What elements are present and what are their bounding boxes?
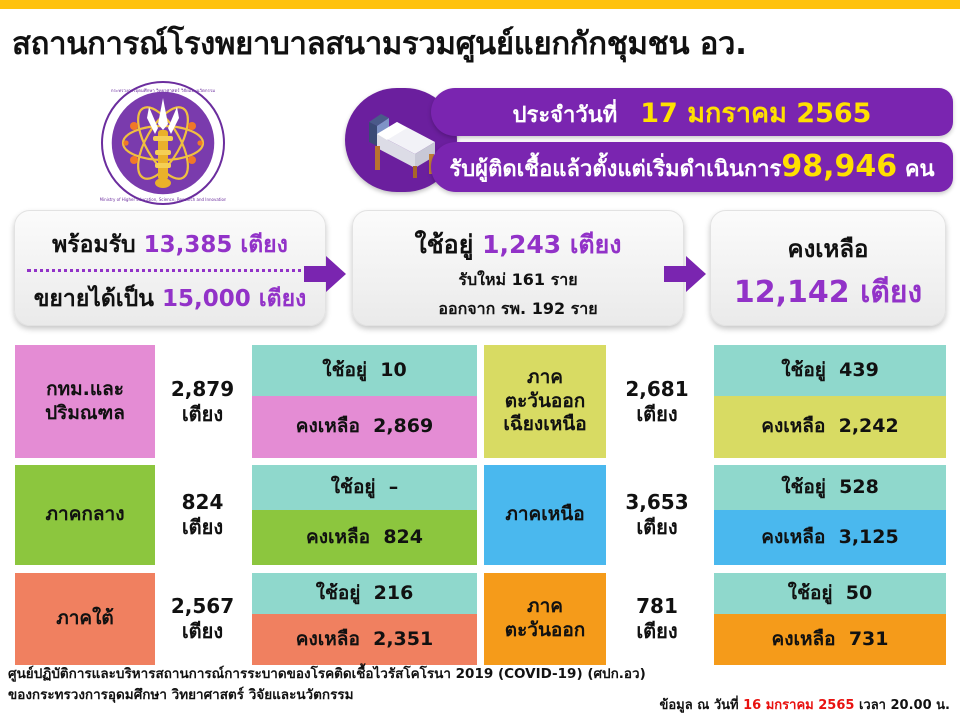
region-remaining-label: คงเหลือ	[306, 526, 370, 548]
region-in-use-label: ใช้อยู่	[331, 476, 376, 498]
region-remaining-text: คงเหลือ 3,125	[761, 526, 898, 550]
region-total-beds-cell: 2,879เตียง	[160, 345, 245, 458]
summary-banner: ประจำวันที่ 17 มกราคม 2565 รับผู้ติดเชื้…	[345, 88, 953, 192]
banner-cumulative-value: 98,946	[781, 149, 897, 184]
region-total-beds-cell: 3,653เตียง	[612, 465, 702, 565]
capacity-ready-value: 13,385	[144, 232, 233, 258]
region-name-line: ปริมณฑล	[45, 402, 125, 426]
region-in-use-value: –	[389, 476, 399, 498]
region-total-unit: เตียง	[182, 619, 223, 644]
region-name-line: เฉียงเหนือ	[503, 413, 586, 437]
footer-time-label: เวลา	[859, 698, 886, 713]
capacity-expandable-label: ขยายได้เป็น	[34, 286, 154, 312]
footer-data-label: ข้อมูล ณ วันที่	[659, 698, 738, 713]
region-name-cell: ภาคเหนือ	[484, 465, 606, 565]
region-in-use-label: ใช้อยู่	[322, 359, 367, 381]
region-name-line: ตะวันออก	[505, 619, 586, 643]
region-remaining-value: 2,242	[839, 415, 899, 437]
region-name-line: ภาคใต้	[56, 607, 114, 631]
infographic-page: สถานการณ์โรงพยาบาลสนามรวมศูนย์แยกกักชุมช…	[0, 0, 960, 720]
footer-data-date: 16 มกราคม 2565	[743, 698, 854, 713]
region-total-beds-cell: 824เตียง	[160, 465, 245, 565]
region-remaining-text: คงเหลือ 731	[772, 628, 889, 652]
region-in-use-text: ใช้อยู่ 528	[781, 476, 879, 500]
remaining-line: 12,142 เตียง	[711, 269, 945, 316]
region-total-value: 2,681	[625, 377, 688, 402]
discharges-line: ออกจาก รพ. 192 ราย	[353, 297, 683, 322]
region-in-use-label: ใช้อยู่	[788, 582, 833, 604]
region-in-use-value: 439	[839, 359, 879, 381]
capacity-divider	[27, 269, 315, 272]
region-total-value: 824	[182, 490, 224, 515]
remaining-unit: เตียง	[860, 275, 922, 310]
region-in-use-cell: ใช้อยู่ 439	[714, 345, 946, 396]
region-in-use-value: 216	[374, 582, 414, 604]
region-in-use-text: ใช้อยู่ –	[331, 476, 398, 500]
region-in-use-cell: ใช้อยู่ 10	[252, 345, 477, 396]
region-total-unit: เตียง	[182, 515, 223, 540]
region-name-cell: ภาคตะวันออกเฉียงเหนือ	[484, 345, 606, 458]
flow-arrow-2-icon	[664, 254, 706, 294]
region-in-use-label: ใช้อยู่	[781, 359, 826, 381]
region-name-cell: กทม.และปริมณฑล	[15, 345, 155, 458]
capacity-ready-line: พร้อมรับ 13,385 เตียง	[15, 227, 325, 263]
remaining-label: คงเหลือ	[711, 229, 945, 268]
footer-organization: ศูนย์ปฏิบัติการและบริหารสถานการณ์การระบา…	[8, 664, 646, 706]
region-table: กทม.และปริมณฑล2,879เตียงใช้อยู่ 10คงเหลื…	[0, 345, 960, 645]
capacity-expandable-value: 15,000	[162, 286, 251, 312]
region-in-use-text: ใช้อยู่ 50	[788, 582, 872, 606]
region-in-use-text: ใช้อยู่ 439	[781, 359, 879, 383]
seal-thai-text: กระทรวงการอุดมศึกษา วิทยาศาสตร์ วิจัยและ…	[111, 88, 215, 94]
region-total-value: 2,567	[171, 594, 234, 619]
flow-box-in-use: ใช้อยู่ 1,243 เตียง รับใหม่ 161 ราย ออกจ…	[352, 210, 684, 326]
new-admissions-line: รับใหม่ 161 ราย	[353, 268, 683, 293]
capacity-ready-label: พร้อมรับ	[52, 232, 135, 258]
footer-time-value: 20.00 น.	[891, 698, 950, 713]
region-total-beds-cell: 2,567เตียง	[160, 573, 245, 665]
region-remaining-value: 2,869	[373, 415, 433, 437]
region-in-use-cell: ใช้อยู่ 50	[714, 573, 946, 614]
region-remaining-cell: คงเหลือ 824	[252, 510, 477, 565]
in-use-line: ใช้อยู่ 1,243 เตียง	[353, 225, 683, 265]
remaining-value: 12,142	[734, 275, 850, 310]
region-in-use-label: ใช้อยู่	[781, 476, 826, 498]
region-remaining-cell: คงเหลือ 731	[714, 614, 946, 665]
region-in-use-value: 528	[839, 476, 879, 498]
region-remaining-text: คงเหลือ 2,869	[296, 415, 433, 439]
banner-cumulative-label: รับผู้ติดเชื้อแล้วตั้งแต่เริ่มดำเนินการ	[449, 157, 781, 182]
region-in-use-text: ใช้อยู่ 10	[322, 359, 406, 383]
region-remaining-cell: คงเหลือ 3,125	[714, 510, 946, 565]
in-use-unit: เตียง	[570, 230, 622, 259]
region-remaining-label: คงเหลือ	[761, 526, 825, 548]
region-remaining-label: คงเหลือ	[772, 628, 836, 650]
seal-english-text: Ministry of Higher Education, Science, R…	[100, 197, 226, 202]
region-name-line: กทม.และ	[46, 378, 124, 402]
region-remaining-value: 824	[383, 526, 423, 548]
region-in-use-cell: ใช้อยู่ –	[252, 465, 477, 510]
region-in-use-value: 10	[380, 359, 406, 381]
region-in-use-value: 50	[846, 582, 872, 604]
page-title: สถานการณ์โรงพยาบาลสนามรวมศูนย์แยกกักชุมช…	[12, 18, 952, 68]
region-name-line: ภาค	[527, 595, 563, 619]
region-total-beds-cell: 2,681เตียง	[612, 345, 702, 458]
top-accent-bar	[0, 0, 960, 9]
region-total-unit: เตียง	[636, 619, 677, 644]
region-total-unit: เตียง	[182, 402, 223, 427]
region-remaining-cell: คงเหลือ 2,869	[252, 396, 477, 458]
region-in-use-label: ใช้อยู่	[316, 582, 361, 604]
capacity-expandable-line: ขยายได้เป็น 15,000 เตียง	[15, 281, 325, 317]
banner-date-text: ประจำวันที่ 17 มกราคม 2565	[513, 91, 872, 134]
region-in-use-text: ใช้อยู่ 216	[316, 582, 414, 606]
flow-arrow-1-icon	[304, 254, 346, 294]
region-total-value: 3,653	[625, 490, 688, 515]
region-remaining-label: คงเหลือ	[296, 628, 360, 650]
region-total-value: 2,879	[171, 377, 234, 402]
banner-date-value: 17 มกราคม 2565	[640, 98, 871, 129]
banner-cumulative-unit: คน	[905, 157, 935, 182]
region-name-cell: ภาคตะวันออก	[484, 573, 606, 665]
region-remaining-text: คงเหลือ 824	[306, 526, 423, 550]
region-remaining-value: 3,125	[839, 526, 899, 548]
flow-box-remaining: คงเหลือ 12,142 เตียง	[710, 210, 946, 326]
region-remaining-label: คงเหลือ	[296, 415, 360, 437]
region-total-beds-cell: 781เตียง	[612, 573, 702, 665]
region-remaining-value: 731	[849, 628, 889, 650]
banner-cumulative-row: รับผู้ติดเชื้อแล้วตั้งแต่เริ่มดำเนินการ9…	[431, 142, 953, 192]
capacity-ready-unit: เตียง	[240, 232, 288, 258]
region-remaining-label: คงเหลือ	[761, 415, 825, 437]
capacity-expandable-unit: เตียง	[259, 286, 307, 312]
region-in-use-cell: ใช้อยู่ 216	[252, 573, 477, 614]
banner-date-label: ประจำวันที่	[513, 103, 618, 128]
region-remaining-cell: คงเหลือ 2,351	[252, 614, 477, 665]
in-use-value: 1,243	[482, 230, 561, 259]
footer-data-timestamp: ข้อมูล ณ วันที่ 16 มกราคม 2565 เวลา 20.0…	[659, 694, 950, 715]
region-total-unit: เตียง	[636, 515, 677, 540]
footer-line-1: ศูนย์ปฏิบัติการและบริหารสถานการณ์การระบา…	[8, 664, 646, 685]
ministry-seal-logo: กระทรวงการอุดมศึกษา วิทยาศาสตร์ วิจัยและ…	[100, 80, 226, 206]
region-total-value: 781	[636, 594, 678, 619]
region-name-cell: ภาคใต้	[15, 573, 155, 665]
banner-date-row: ประจำวันที่ 17 มกราคม 2565	[431, 88, 953, 136]
region-total-unit: เตียง	[636, 402, 677, 427]
region-name-line: ภาคกลาง	[46, 503, 125, 527]
bed-flow-section: พร้อมรับ 13,385 เตียง ขยายได้เป็น 15,000…	[0, 206, 960, 330]
region-name-line: ภาค	[527, 366, 563, 390]
region-in-use-cell: ใช้อยู่ 528	[714, 465, 946, 510]
region-remaining-text: คงเหลือ 2,351	[296, 628, 433, 652]
flow-box-capacity: พร้อมรับ 13,385 เตียง ขยายได้เป็น 15,000…	[14, 210, 326, 326]
region-name-cell: ภาคกลาง	[15, 465, 155, 565]
region-remaining-text: คงเหลือ 2,242	[761, 415, 898, 439]
region-name-line: ภาคเหนือ	[505, 503, 584, 527]
in-use-label: ใช้อยู่	[415, 230, 474, 259]
region-remaining-value: 2,351	[373, 628, 433, 650]
footer-line-2: ของกระทรวงการอุดมศึกษา วิทยาศาสตร์ วิจัย…	[8, 685, 646, 706]
region-remaining-cell: คงเหลือ 2,242	[714, 396, 946, 458]
banner-cumulative-text: รับผู้ติดเชื้อแล้วตั้งแต่เริ่มดำเนินการ9…	[449, 149, 934, 186]
region-name-line: ตะวันออก	[505, 390, 586, 414]
